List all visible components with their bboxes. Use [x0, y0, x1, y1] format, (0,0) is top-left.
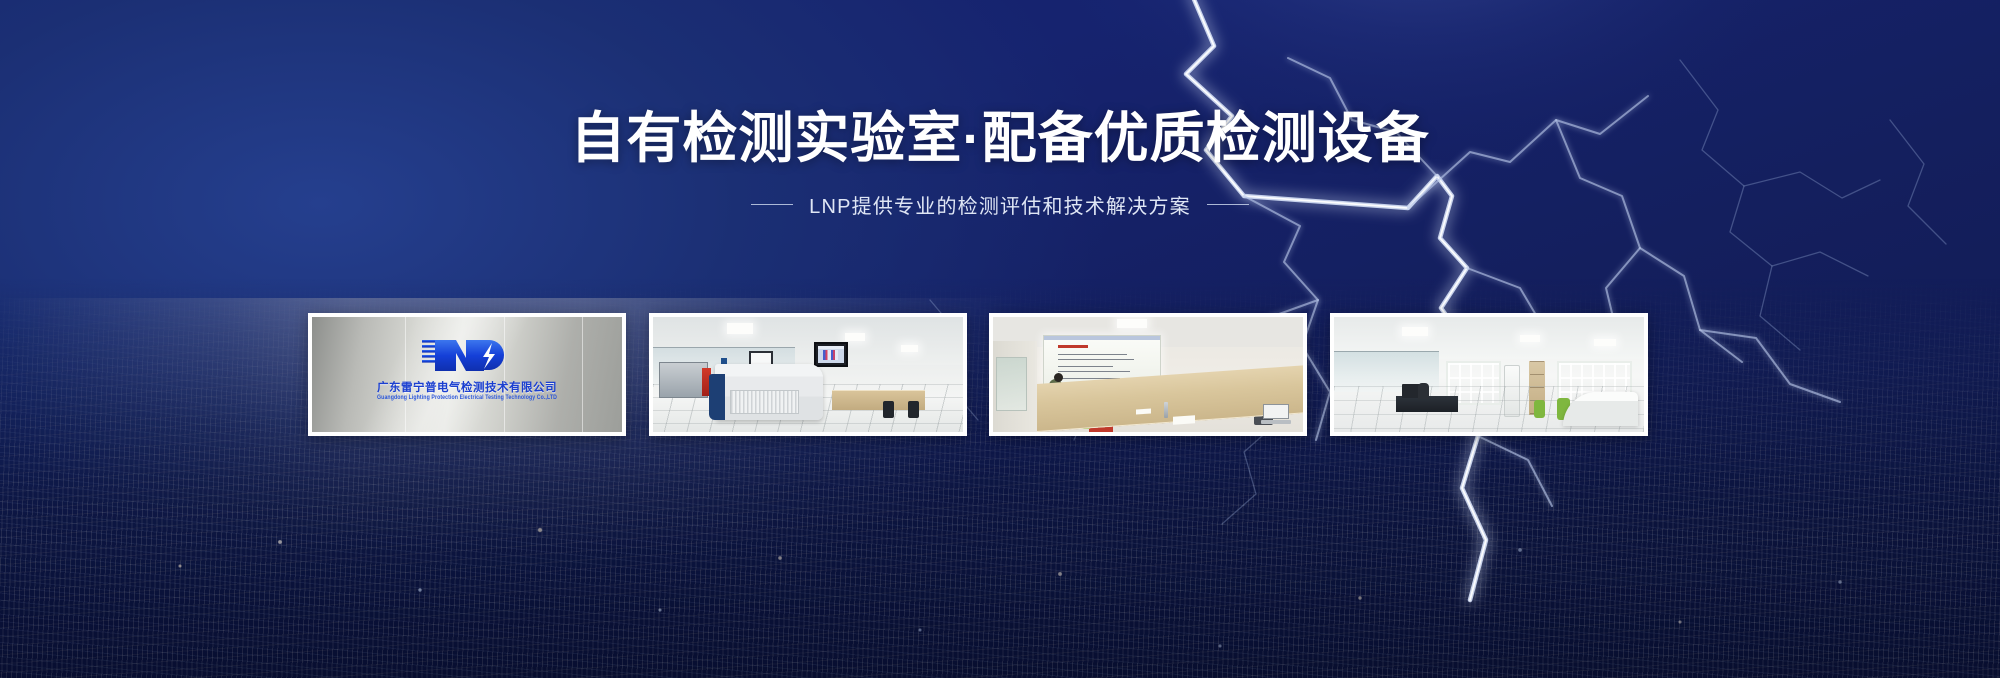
page-subtitle-text: LNP提供专业的检测评估和技术解决方案 — [809, 190, 1191, 219]
presenter-head — [1054, 373, 1063, 382]
screen-titlebar — [1044, 336, 1160, 340]
photo-company-signboard: 广东雷宁普电气检测技术有限公司 Guangdong Lighting Prote… — [312, 317, 622, 432]
documents — [1136, 408, 1151, 414]
test-rig — [659, 362, 709, 398]
ceiling-light — [727, 323, 753, 334]
slide-title — [1058, 345, 1088, 348]
ceiling-light — [901, 345, 918, 352]
photo-hv-testing-lab — [653, 317, 963, 432]
glass-door — [996, 357, 1027, 411]
slide-line — [1058, 371, 1130, 372]
water-bottle — [1164, 402, 1168, 418]
ceiling-light — [845, 333, 865, 341]
slide-line — [1058, 359, 1134, 360]
green-chair — [1534, 400, 1545, 418]
photo-training-meeting-room — [993, 317, 1303, 432]
gallery-card-office-area[interactable] — [1330, 313, 1648, 436]
office-chair — [908, 401, 919, 418]
ceiling-light — [1520, 335, 1540, 342]
photo-office-area — [1334, 317, 1644, 432]
ceiling-light — [1117, 319, 1147, 328]
gallery-card-hv-testing-lab[interactable] — [649, 313, 967, 436]
laptop-base — [1261, 420, 1291, 424]
photo-gallery: 广东雷宁普电气检测技术有限公司 Guangdong Lighting Prote… — [308, 313, 1648, 436]
office-worker — [1418, 383, 1429, 399]
hero-text-block: 自有检测实验室·配备优质检测设备 LNP提供专业的检测评估和技术解决方案 — [0, 0, 2000, 219]
laptop — [1261, 404, 1291, 424]
slide-line — [1058, 354, 1127, 355]
slide-line — [1058, 366, 1114, 367]
gallery-card-training-meeting-room[interactable] — [989, 313, 1307, 436]
page-title: 自有检测实验室·配备优质检测设备 — [0, 108, 2000, 170]
gallery-card-company-signboard[interactable]: 广东雷宁普电气检测技术有限公司 Guangdong Lighting Prote… — [308, 313, 626, 436]
rule-right-icon — [1207, 204, 1249, 205]
office-chair — [883, 401, 894, 418]
rule-left-icon — [751, 204, 793, 205]
page-subtitle: LNP提供专业的检测评估和技术解决方案 — [0, 190, 2000, 219]
ceiling-light — [1594, 339, 1616, 346]
hero-banner: 自有检测实验室·配备优质检测设备 LNP提供专业的检测评估和技术解决方案 — [0, 0, 2000, 678]
lnp-monogram-icon — [419, 334, 515, 378]
control-console — [715, 364, 824, 420]
laptop-screen — [1263, 404, 1289, 419]
wall-monitor — [814, 342, 848, 367]
logo-company-name-cn: 广东雷宁普电气检测技术有限公司 — [312, 379, 622, 395]
ceiling-light — [1402, 327, 1428, 336]
lnp-logo-icon: 广东雷宁普电气检测技术有限公司 Guangdong Lighting Prote… — [312, 334, 622, 401]
logo-company-name-en: Guangdong Lighting Protection Electrical… — [312, 395, 622, 402]
documents — [1173, 415, 1195, 425]
